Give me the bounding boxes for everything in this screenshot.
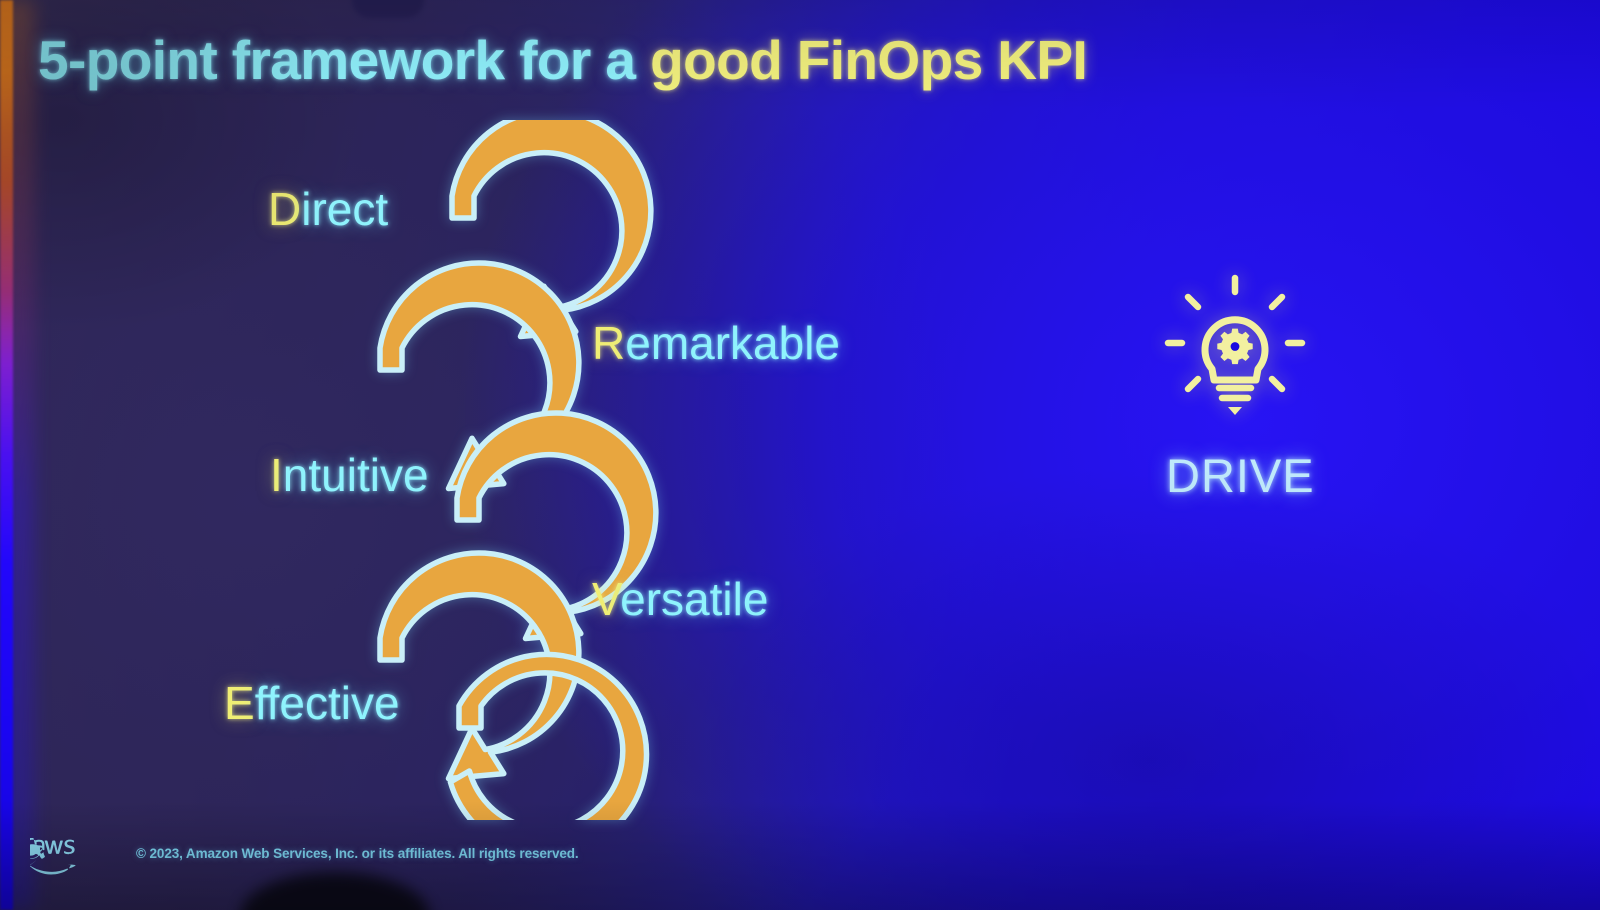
bulb-ray-se	[1272, 379, 1282, 389]
framework-label-effective: Effective	[224, 676, 400, 730]
framework-rest-versatile: ersatile	[620, 573, 768, 625]
framework-initial-d: D	[268, 183, 301, 235]
framework-label-intuitive: Intuitive	[270, 448, 429, 502]
screen-glare-overlay	[0, 0, 1600, 910]
framework-rest-remarkable: emarkable	[625, 317, 840, 369]
framework-label-versatile: Versatile	[592, 572, 768, 626]
slide-title: 5-point framework for a good FinOps KPI	[38, 28, 1087, 92]
framework-label-direct: Direct	[268, 182, 388, 236]
framework-initial-r: R	[592, 317, 625, 369]
lightbulb-gear-icon	[1160, 270, 1310, 420]
framework-rest-effective: ffective	[255, 677, 400, 729]
framework-label-remarkable: Remarkable	[592, 316, 840, 370]
gear-icon	[1217, 329, 1252, 364]
bulb-ray-nw	[1188, 297, 1198, 307]
bulb-tip	[1228, 407, 1242, 415]
slide-title-cyan-part: 5-point framework for a	[38, 29, 650, 91]
screen-bezel-led-strip	[0, 0, 13, 910]
framework-initial-i: I	[270, 449, 283, 501]
gear-center-hole	[1231, 342, 1240, 351]
aws-logo	[30, 838, 92, 880]
display-camera-notch	[352, 0, 424, 18]
acronym-label-drive: DRIVE	[1166, 448, 1315, 503]
framework-initial-v: V	[592, 573, 620, 625]
bulb-ray-sw	[1188, 379, 1198, 389]
aws-swoosh	[30, 866, 68, 875]
aws-swoosh-tip	[68, 865, 75, 869]
copyright-notice: © 2023, Amazon Web Services, Inc. or its…	[136, 846, 579, 861]
presentation-slide: 5-point framework for a good FinOps KPI	[0, 0, 1600, 910]
slide-title-yellow-part: good FinOps KPI	[650, 29, 1087, 91]
framework-rest-direct: irect	[301, 183, 388, 235]
framework-initial-e: E	[224, 677, 255, 729]
audience-silhouette	[240, 872, 430, 910]
bulb-ray-ne	[1272, 297, 1282, 307]
framework-rest-intuitive: ntuitive	[283, 449, 429, 501]
